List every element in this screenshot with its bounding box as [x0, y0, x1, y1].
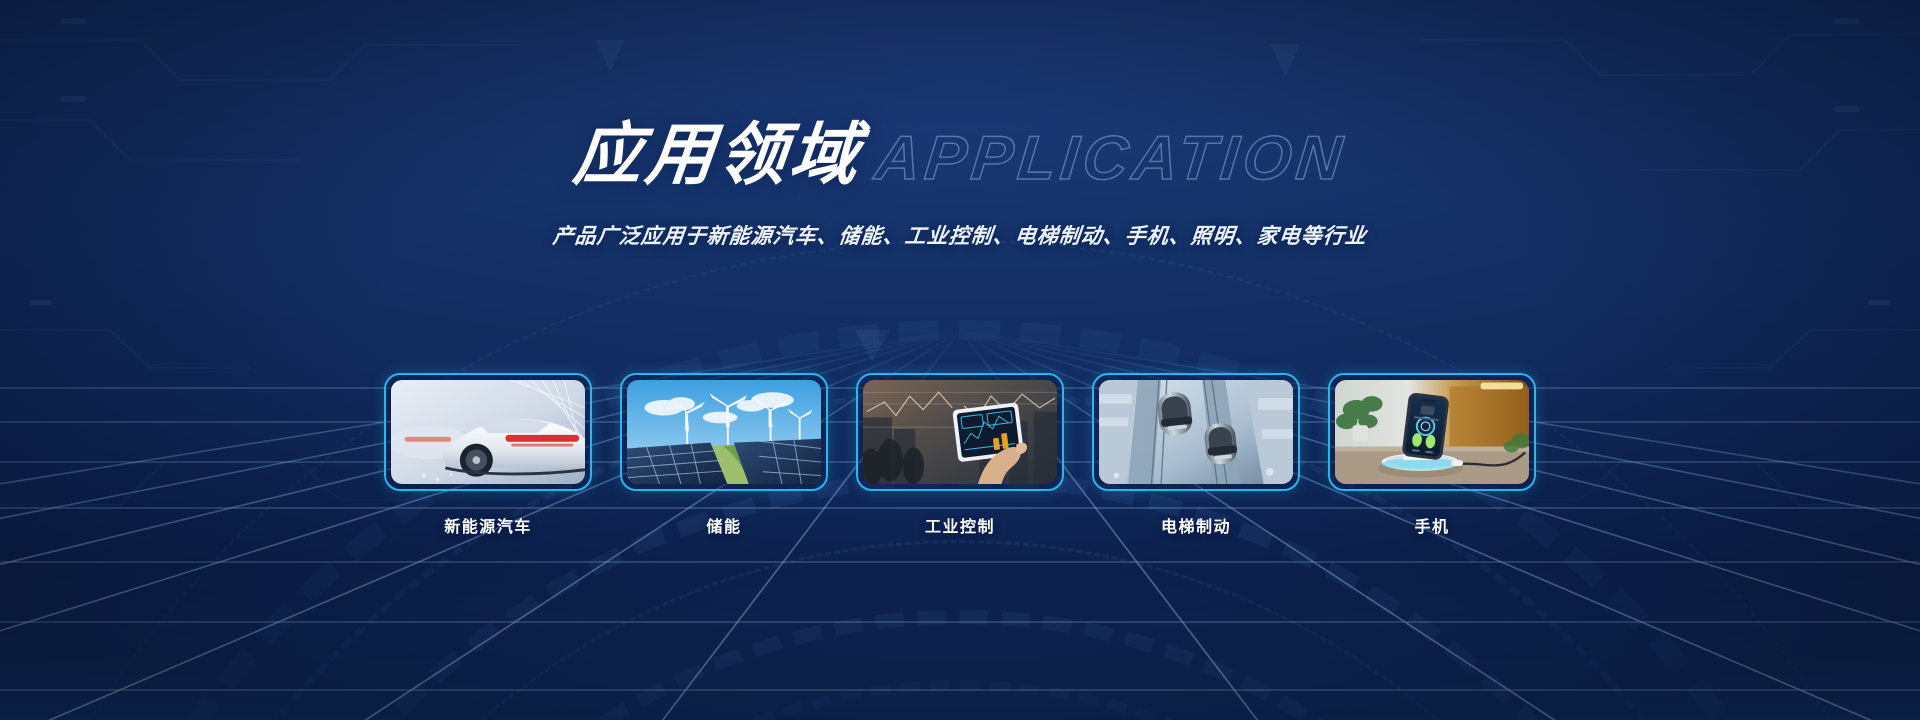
title-row: 应用领域 APPLICATION [0, 112, 1920, 198]
card-frame [1092, 373, 1300, 491]
card-frame [856, 373, 1064, 491]
application-card-mobile-phone[interactable]: 手机 [1328, 373, 1536, 537]
ring-1 [370, 680, 1550, 720]
page-title-en: APPLICATION [872, 128, 1349, 190]
card-label: 手机 [1414, 513, 1449, 537]
application-card-elevator-braking[interactable]: 电梯制动 [1092, 373, 1300, 537]
circuit-traces-decoration [0, 0, 1920, 720]
industrial-tablet-thumbnail [863, 380, 1057, 484]
banner-header: 应用领域 APPLICATION 产品广泛应用于新能源汽车、储能、工业控制、电梯… [0, 112, 1920, 250]
card-label: 储能 [706, 513, 741, 537]
card-label: 新能源汽车 [444, 513, 532, 537]
card-label: 电梯制动 [1161, 513, 1231, 537]
ring-3 [230, 540, 1690, 720]
vignette-overlay [0, 0, 1920, 720]
page-subtitle: 产品广泛应用于新能源汽车、储能、工业控制、电梯制动、手机、照明、家电等行业 [0, 220, 1920, 250]
card-frame [384, 373, 592, 491]
application-card-new-energy-vehicle[interactable]: 新能源汽车 [384, 373, 592, 537]
application-banner: 应用领域 APPLICATION 产品广泛应用于新能源汽车、储能、工业控制、电梯… [0, 0, 1920, 720]
application-card-industrial-control[interactable]: 工业控制 [856, 373, 1064, 537]
solar-wind-farm-thumbnail [627, 380, 821, 484]
ring-2 [300, 610, 1620, 720]
elevator-shaft-thumbnail [1099, 380, 1293, 484]
page-title: 应用领域 [570, 121, 865, 189]
card-frame [1328, 373, 1536, 491]
application-card-energy-storage[interactable]: 储能 [620, 373, 828, 537]
card-frame [620, 373, 828, 491]
card-label: 工业控制 [925, 513, 995, 537]
application-card-list: 新能源汽车 [0, 373, 1920, 537]
smartphone-charger-thumbnail [1335, 380, 1529, 484]
sports-car-thumbnail [391, 380, 585, 484]
